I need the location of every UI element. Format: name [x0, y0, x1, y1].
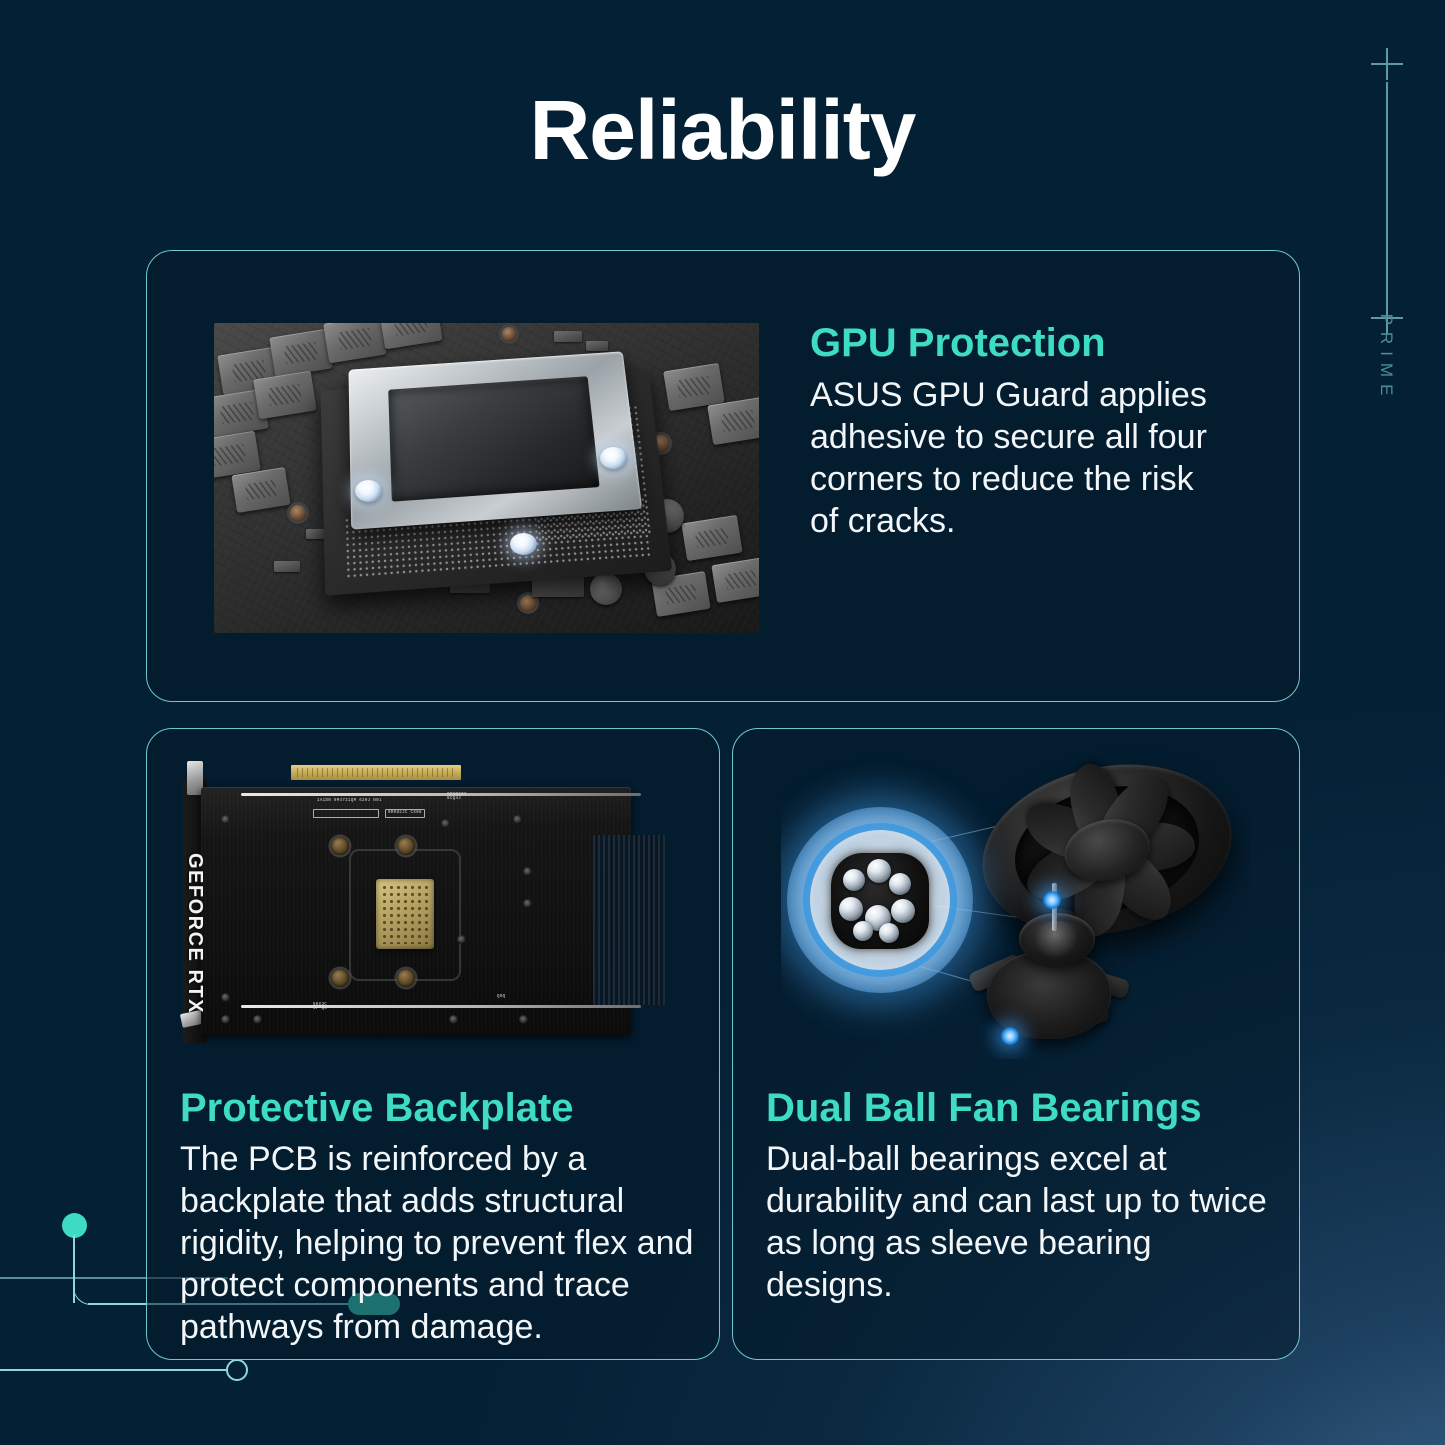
protective-backplate-heading: Protective Backplate: [180, 1083, 697, 1133]
dual-ball-fan-bearings-heading: Dual Ball Fan Bearings: [766, 1083, 1277, 1133]
fan-bearing-exploded-diagram: [781, 749, 1251, 1059]
gpu-protection-body: ASUS GPU Guard applies adhesive to secur…: [810, 374, 1222, 542]
gpu-die-closeup-photo: [214, 323, 759, 633]
adhesive-droplet: [355, 480, 382, 502]
pcie-connector: [291, 765, 461, 780]
graphics-card-backplate-photo: GEFORCE RTX: [171, 757, 683, 1057]
vertical-rule: [1386, 82, 1387, 306]
bearing-point-upper: [1043, 891, 1061, 909]
backplate-body: GEFORCE RTX: [201, 787, 631, 1035]
infographic-canvas: Reliability PRIME: [0, 0, 1445, 1445]
card-gpu-protection: GPU Protection ASUS GPU Guard applies ad…: [146, 250, 1300, 702]
protective-backplate-body: The PCB is reinforced by a backplate tha…: [180, 1138, 697, 1348]
geforce-rtx-label: GEFORCE RTX: [183, 853, 206, 1014]
ball-bearing-detail: [831, 853, 929, 949]
protective-backplate-text: Protective Backplate The PCB is reinforc…: [180, 1083, 697, 1348]
circuit-node-hollow: [226, 1359, 248, 1381]
prime-brand-mark: PRIME: [1357, 30, 1417, 420]
adhesive-droplet: [510, 533, 537, 555]
adhesive-droplet: [600, 447, 627, 469]
bearing-rotor: [1019, 913, 1095, 965]
gpu-die: [388, 377, 599, 502]
dual-ball-fan-bearings-text: Dual Ball Fan Bearings Dual-ball bearing…: [766, 1083, 1277, 1306]
bearing-point-lower: [1001, 1027, 1019, 1045]
dual-ball-fan-bearings-body: Dual-ball bearings excel at durability a…: [766, 1138, 1277, 1306]
gpu-heat-spreader: [349, 351, 643, 530]
card-protective-backplate: GEFORCE RTX: [146, 728, 720, 1360]
prime-label: PRIME: [1376, 308, 1396, 408]
heatsink-fins: [593, 835, 665, 1005]
plus-icon: [1371, 48, 1403, 80]
gpu-die-window: [376, 879, 434, 949]
bearing-assembly: [977, 899, 1127, 1054]
bearing-magnifier: [787, 807, 973, 993]
card-dual-ball-fan-bearings: Dual Ball Fan Bearings Dual-ball bearing…: [732, 728, 1300, 1360]
gpu-protection-heading: GPU Protection: [810, 318, 1222, 368]
gpu-protection-text: GPU Protection ASUS GPU Guard applies ad…: [810, 318, 1222, 542]
page-title: Reliability: [0, 82, 1445, 179]
